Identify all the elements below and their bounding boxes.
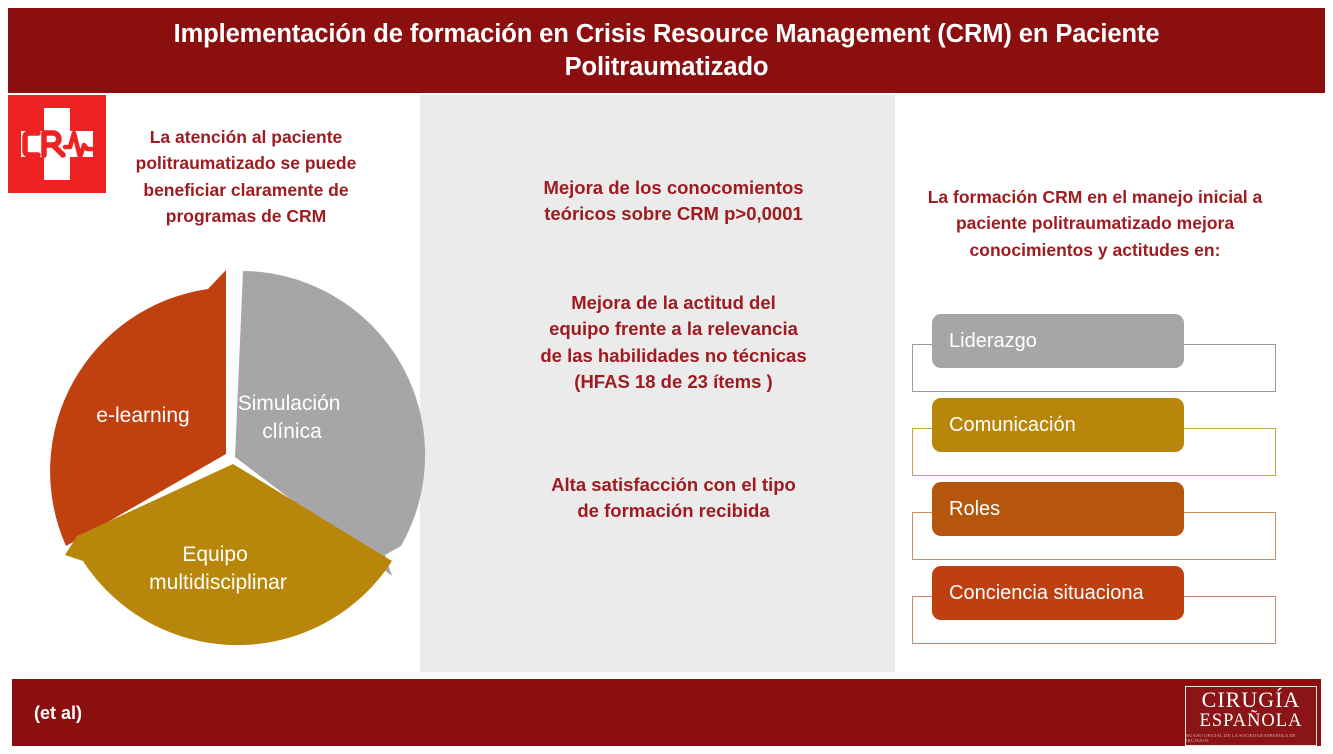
outcome-bar-label: Conciencia situaciona [949,583,1144,603]
center-result-1-line1: Mejora de los conocomientos [505,175,842,201]
outcome-bar-label: Comunicación [949,415,1076,435]
cycle-diagram-svg: e-learning Simulación clínica Equipo mul… [40,258,430,650]
center-result-2-line4: (HFAS 18 de 23 ítems ) [505,369,842,395]
cycle-diagram: e-learning Simulación clínica Equipo mul… [40,258,430,650]
outcome-bar-fill: Liderazgo [932,314,1184,368]
outcome-bar-item-liderazgo[interactable]: Liderazgo [910,312,1282,396]
outcome-bar-fill: Conciencia situaciona [932,566,1184,620]
footer-bar [12,679,1321,746]
journal-logo-line1: CIRUGÍA [1202,689,1301,711]
center-result-2-line2: equipo frente a la relevancia [505,316,842,342]
crm-logo-badge [8,95,106,193]
outcome-bar-label: Roles [949,499,1000,519]
center-result-1-line2: teóricos sobre CRM p>0,0001 [505,201,842,227]
center-result-3-line1: Alta satisfacción con el tipo [505,472,842,498]
cycle-label-e-learning: e-learning [96,404,189,427]
center-result-2: Mejora de la actitud del equipo frente a… [505,290,842,395]
journal-logo-subtitle: ÓRGANO OFICIAL DE LA SOCIEDAD ESPAÑOLA D… [1185,733,1317,743]
journal-logo: CIRUGÍA ESPAÑOLA ÓRGANO OFICIAL DE LA SO… [1185,686,1317,746]
slide-title-bar: Implementación de formación en Crisis Re… [8,8,1325,93]
center-result-3: Alta satisfacción con el tipo de formaci… [505,472,842,525]
outcome-bar-item-conciencia-situacional[interactable]: Conciencia situaciona [910,564,1282,648]
slide-root: Implementación de formación en Crisis Re… [0,0,1333,754]
outcome-bar-item-comunicacion[interactable]: Comunicación [910,396,1282,480]
outcome-bar-fill: Comunicación [932,398,1184,452]
center-result-2-line1: Mejora de la actitud del [505,290,842,316]
page-title: Implementación de formación en Crisis Re… [102,18,1232,83]
right-heading: La formación CRM en el manejo inicial a … [912,184,1278,263]
center-result-3-line2: de formación recibida [505,498,842,524]
left-heading: La atención al paciente politraumatizado… [110,124,382,229]
outcome-bar-item-roles[interactable]: Roles [910,480,1282,564]
center-result-1: Mejora de los conocomientos teóricos sob… [505,175,842,228]
outcome-bar-fill: Roles [932,482,1184,536]
center-result-2-line3: de las habilidades no técnicas [505,343,842,369]
medical-cross-ecg-icon [8,95,106,193]
journal-logo-line2: ESPAÑOLA [1200,712,1303,731]
outcome-bar-list: Liderazgo Comunicación Roles Conciencia … [910,312,1282,648]
outcome-bar-label: Liderazgo [949,331,1037,351]
citation-text: (et al) [34,703,82,724]
